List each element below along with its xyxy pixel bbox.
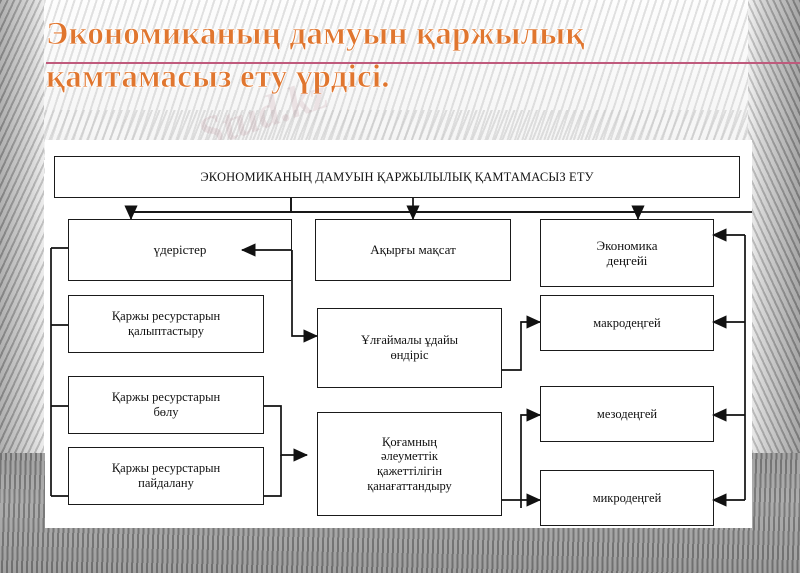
flowchart-node-macro-level[interactable]: макродеңгей [540, 295, 714, 351]
slide-title: Экономиканың дамуын қаржылық қамтамасыз … [46, 14, 746, 97]
flowchart-node-social-needs[interactable]: Қоғамның әлеуметтік қажеттілігін қанағат… [317, 412, 502, 516]
flowchart-node-form-resources[interactable]: Қаржы ресурстарын қалыптастыру [68, 295, 264, 353]
flowchart-node-economy-level-heading-label-a: Экономика [596, 238, 657, 253]
flowchart-node-use-resources-label-a: Қаржы ресурстарын [112, 461, 220, 476]
flowchart-node-final-goal-heading-label: Ақырғы мақсат [370, 242, 456, 257]
flowchart-node-distribute-resources[interactable]: Қаржы ресурстарын бөлу [68, 376, 264, 434]
flowchart-node-processes-heading-label: үдерістер [154, 242, 207, 257]
flowchart-node-social-needs-label-a: Қоғамның [367, 435, 452, 450]
flowchart-node-social-needs-label-b: әлеуметтік [367, 449, 452, 464]
flowchart-node-social-needs-label-c: қажеттілігін [367, 464, 452, 479]
slide-title-line-1: Экономиканың дамуын қаржылық [46, 14, 746, 54]
flowchart-node-form-resources-label-b: қалыптастыру [112, 324, 220, 339]
flowchart-node-economy-level-heading[interactable]: Экономика деңгейі [540, 219, 714, 287]
flowchart-node-economy-level-heading-label-b: деңгейі [596, 253, 657, 268]
slide-canvas: Экономиканың дамуын қаржылық қамтамасыз … [0, 0, 800, 573]
flowchart-node-micro-level[interactable]: микродеңгей [540, 470, 714, 526]
flowchart-node-final-goal-heading[interactable]: Ақырғы мақсат [315, 219, 511, 281]
flowchart-node-expanded-reproduction[interactable]: Ұлғаймалы ұдайы өндіріс [317, 308, 502, 388]
flowchart-node-use-resources-label-b: пайдалану [112, 476, 220, 491]
flowchart-node-meso-level-label: мезодеңгей [597, 407, 657, 422]
flowchart-node-social-needs-label-d: қанағаттандыру [367, 479, 452, 494]
flowchart-node-header[interactable]: ЭКОНОМИКАНЫҢ ДАМУЫН ҚАРЖЫЛЫЛЫҚ ҚАМТАМАСЫ… [54, 156, 740, 198]
flowchart-node-header-label: ЭКОНОМИКАНЫҢ ДАМУЫН ҚАРЖЫЛЫЛЫҚ ҚАМТАМАСЫ… [200, 170, 593, 185]
flowchart-node-use-resources[interactable]: Қаржы ресурстарын пайдалану [68, 447, 264, 505]
flowchart-node-expanded-reproduction-label-b: өндіріс [361, 348, 458, 363]
flowchart-node-expanded-reproduction-label-a: Ұлғаймалы ұдайы [361, 333, 458, 348]
flowchart-node-distribute-resources-label-b: бөлу [112, 405, 220, 420]
flowchart-node-meso-level[interactable]: мезодеңгей [540, 386, 714, 442]
flowchart-node-processes-heading[interactable]: үдерістер [68, 219, 292, 281]
flowchart-node-macro-level-label: макродеңгей [593, 316, 660, 331]
flowchart-node-distribute-resources-label-a: Қаржы ресурстарын [112, 390, 220, 405]
flowchart-node-form-resources-label-a: Қаржы ресурстарын [112, 309, 220, 324]
flowchart-panel: ЭКОНОМИКАНЫҢ ДАМУЫН ҚАРЖЫЛЫЛЫҚ ҚАМТАМАСЫ… [45, 140, 752, 528]
title-divider-rule [46, 62, 800, 64]
flowchart-node-micro-level-label: микродеңгей [593, 491, 662, 506]
